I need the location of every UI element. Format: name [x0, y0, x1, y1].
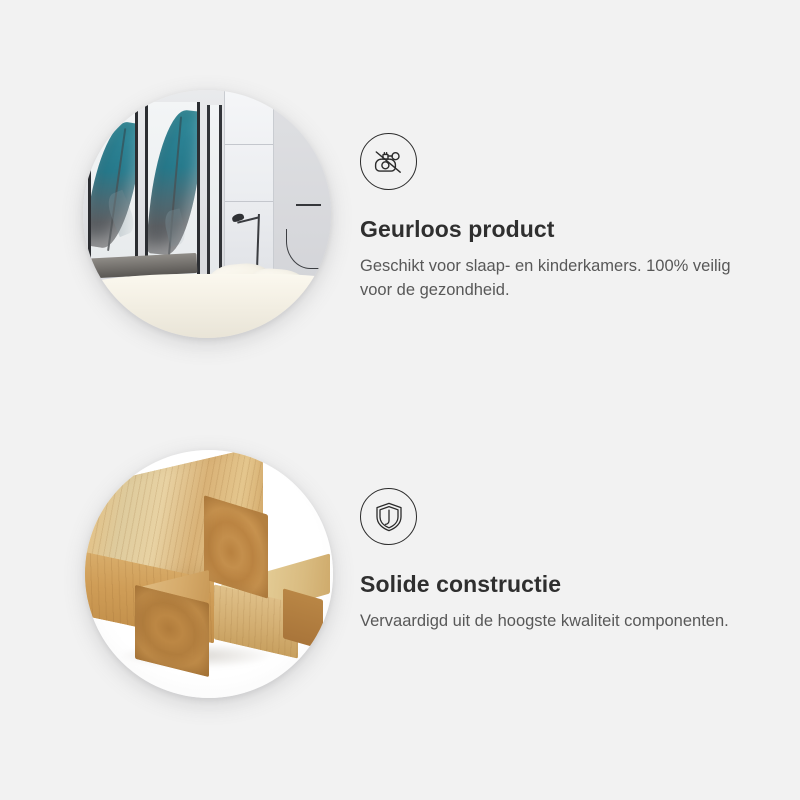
wooden-beams-photo — [85, 450, 333, 698]
product-feature-page: Geurloos product Geschikt voor slaap- en… — [0, 0, 800, 800]
feature-description: Vervaardigd uit de hoogste kwaliteit com… — [360, 609, 750, 633]
feature-title: Solide constructie — [360, 571, 760, 599]
art-panel-1 — [88, 107, 138, 271]
art-panel-3 — [207, 105, 222, 274]
feature-block-geurloos-product: Geurloos product Geschikt voor slaap- en… — [0, 0, 800, 400]
window-illustration — [224, 90, 274, 269]
feature-1-content: Geurloos product Geschikt voor slaap- en… — [360, 0, 760, 302]
bedroom-scene — [83, 90, 331, 338]
wall-sconce — [296, 204, 321, 206]
no-perfume-icon — [360, 133, 417, 190]
bed-duvet — [83, 274, 331, 338]
feature-description: Geschikt voor slaap- en kinderkamers. 10… — [360, 254, 750, 302]
wooden-beams-scene — [85, 450, 333, 698]
feature-1-image-wrapper — [83, 90, 331, 338]
shield-icon — [360, 488, 417, 545]
art-panel-2 — [145, 102, 200, 276]
feature-title: Geurloos product — [360, 216, 760, 244]
feature-2-image-wrapper — [85, 450, 333, 698]
bedroom-feather-wall-art-photo — [83, 90, 331, 338]
feature-2-content: Solide constructie Vervaardigd uit de ho… — [360, 400, 760, 633]
feature-block-solide-constructie: Solide constructie Vervaardigd uit de ho… — [0, 400, 800, 800]
beam-right-end-grain — [283, 588, 323, 649]
